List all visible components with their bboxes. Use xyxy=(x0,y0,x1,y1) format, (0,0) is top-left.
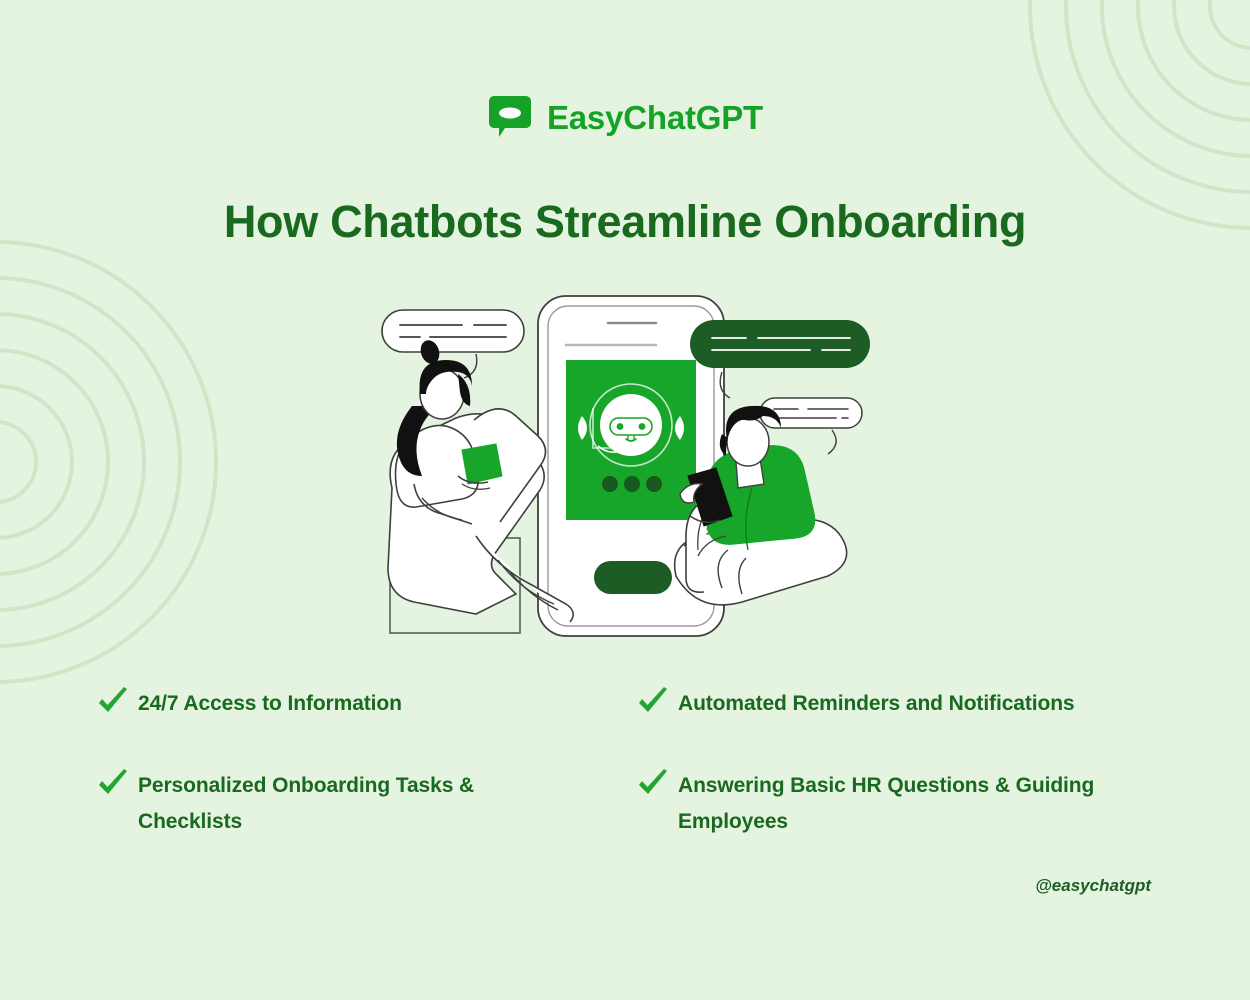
feature-item: 24/7 Access to Information xyxy=(96,686,626,722)
infographic-poster: EasyChatGPT How Chatbots Streamline Onbo… xyxy=(0,0,1250,1000)
brand-logo: EasyChatGPT xyxy=(0,94,1250,140)
typing-dots-indicator xyxy=(602,476,662,492)
feature-label: 24/7 Access to Information xyxy=(138,686,402,722)
check-icon xyxy=(96,767,130,801)
feature-list: 24/7 Access to Information Automated Rem… xyxy=(96,686,1166,840)
feature-item: Personalized Onboarding Tasks & Checklis… xyxy=(96,768,626,840)
feature-label: Answering Basic HR Questions & Guiding E… xyxy=(678,768,1098,840)
check-icon xyxy=(636,685,670,719)
speech-bubble-icon xyxy=(487,94,533,140)
brand-name: EasyChatGPT xyxy=(547,101,763,134)
social-handle: @easychatgpt xyxy=(1035,876,1151,896)
chatbot-screen xyxy=(566,360,696,520)
phone-home-button xyxy=(594,561,672,594)
check-icon xyxy=(636,767,670,801)
feature-item: Answering Basic HR Questions & Guiding E… xyxy=(636,768,1166,840)
feature-label: Personalized Onboarding Tasks & Checklis… xyxy=(138,768,558,840)
feature-label: Automated Reminders and Notifications xyxy=(678,686,1075,722)
feature-item: Automated Reminders and Notifications xyxy=(636,686,1166,722)
check-icon xyxy=(96,685,130,719)
page-title: How Chatbots Streamline Onboarding xyxy=(0,196,1250,248)
chatbot-onboarding-illustration xyxy=(370,288,890,653)
